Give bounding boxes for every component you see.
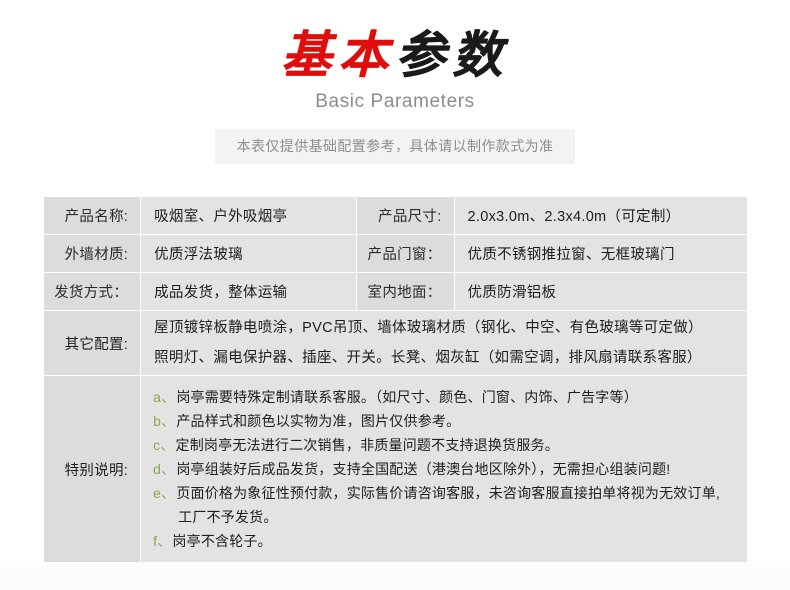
page-title: 基本参数 <box>0 26 790 84</box>
row-value-other-config: 屋顶镀锌板静电喷涂，PVC吊顶、墙体玻璃材质（钢化、中空、有色玻璃等可定做） 照… <box>141 311 747 375</box>
table-row-special-notes: 特别说明: a、岗亭需要特殊定制请联系客服。（如尺寸、颜色、门窗、内饰、广告字等… <box>44 376 747 562</box>
note-item: c、定制岗亭无法进行二次销售，非质量问题不支持退换货服务。 <box>141 433 747 457</box>
row-label-indoor-floor: 室内地面： <box>357 273 453 310</box>
other-config-line-2: 照明灯、漏电保护器、插座、开关。长凳、烟灰缸（如需空调，排风扇请联系客服） <box>154 343 747 373</box>
note-item-continuation: 工厂不予发货。 <box>141 505 747 529</box>
note-text: 页面价格为象征性预付款，实际售价请咨询客服，未咨询客服直接拍单将视为无效订单, <box>176 485 720 501</box>
page-header: 基本参数 Basic Parameters 本表仅提供基础配置参考，具体请以制作… <box>0 0 790 164</box>
note-marker: d、 <box>153 461 175 477</box>
notice-bar: 本表仅提供基础配置参考，具体请以制作款式为准 <box>215 129 576 164</box>
row-label-shipping-method: 发货方式： <box>44 273 140 310</box>
other-config-line-1: 屋顶镀锌板静电喷涂，PVC吊顶、墙体玻璃材质（钢化、中空、有色玻璃等可定做） <box>154 313 747 343</box>
note-item: e、页面价格为象征性预付款，实际售价请咨询客服，未咨询客服直接拍单将视为无效订单… <box>141 481 747 505</box>
spec-table-container: 产品名称: 吸烟室、户外吸烟亭 产品尺寸: 2.0x3.0m、2.3x4.0m（… <box>43 196 748 563</box>
row-label-other-config: 其它配置: <box>44 311 140 375</box>
note-marker: f、 <box>153 533 171 549</box>
row-label-special-notes: 特别说明: <box>44 376 140 562</box>
row-label-product-size: 产品尺寸: <box>357 197 453 234</box>
note-marker: c、 <box>153 437 174 453</box>
note-item: d、岗亭组装好后成品发货，支持全国配送（港澳台地区除外），无需担心组装问题! <box>141 457 747 481</box>
row-value-product-size: 2.0x3.0m、2.3x4.0m（可定制） <box>455 197 747 234</box>
row-label-wall-material: 外墙材质: <box>44 235 140 272</box>
row-value-shipping-method: 成品发货，整体运输 <box>141 273 356 310</box>
special-notes-panel: a、岗亭需要特殊定制请联系客服。（如尺寸、颜色、门窗、内饰、广告字等） b、产品… <box>141 376 747 562</box>
note-marker: a、 <box>153 389 175 405</box>
row-value-product-name: 吸烟室、户外吸烟亭 <box>141 197 356 234</box>
page-subtitle-english: Basic Parameters <box>0 91 790 113</box>
note-text: 定制岗亭无法进行二次销售，非质量问题不支持退换货服务。 <box>176 437 559 453</box>
table-row: 外墙材质: 优质浮法玻璃 产品门窗： 优质不锈钢推拉窗、无框玻璃门 <box>44 235 747 272</box>
note-text: 工厂不予发货。 <box>178 509 277 525</box>
note-text: 产品样式和颜色以实物为准，图片仅供参考。 <box>176 413 460 429</box>
row-label-doors-windows: 产品门窗： <box>357 235 453 272</box>
table-row: 产品名称: 吸烟室、户外吸烟亭 产品尺寸: 2.0x3.0m、2.3x4.0m（… <box>44 197 747 234</box>
note-marker: b、 <box>153 413 175 429</box>
page-title-red: 基本 <box>281 25 395 84</box>
table-row-other-config: 其它配置: 屋顶镀锌板静电喷涂，PVC吊顶、墙体玻璃材质（钢化、中空、有色玻璃等… <box>44 311 747 375</box>
note-text: 岗亭组装好后成品发货，支持全国配送（港澳台地区除外），无需担心组装问题! <box>176 461 670 477</box>
row-value-wall-material: 优质浮法玻璃 <box>141 235 356 272</box>
notice-bar-container: 本表仅提供基础配置参考，具体请以制作款式为准 <box>0 129 790 164</box>
table-row: 发货方式： 成品发货，整体运输 室内地面： 优质防滑铝板 <box>44 273 747 310</box>
row-label-product-name: 产品名称: <box>44 197 140 234</box>
page-root: 基本参数 Basic Parameters 本表仅提供基础配置参考，具体请以制作… <box>0 0 790 590</box>
note-item: a、岗亭需要特殊定制请联系客服。（如尺寸、颜色、门窗、内饰、广告字等） <box>141 385 747 409</box>
note-text: 岗亭不含轮子。 <box>172 533 271 549</box>
bottom-strip <box>0 562 790 590</box>
note-item: b、产品样式和颜色以实物为准，图片仅供参考。 <box>141 409 747 433</box>
note-text: 岗亭需要特殊定制请联系客服。（如尺寸、颜色、门窗、内饰、广告字等） <box>176 389 638 405</box>
row-value-indoor-floor: 优质防滑铝板 <box>455 273 747 310</box>
spec-table: 产品名称: 吸烟室、户外吸烟亭 产品尺寸: 2.0x3.0m、2.3x4.0m（… <box>43 196 748 563</box>
row-value-doors-windows: 优质不锈钢推拉窗、无框玻璃门 <box>455 235 747 272</box>
note-item: f、岗亭不含轮子。 <box>141 529 747 553</box>
note-marker: e、 <box>153 485 175 501</box>
page-title-black: 参数 <box>395 25 509 84</box>
